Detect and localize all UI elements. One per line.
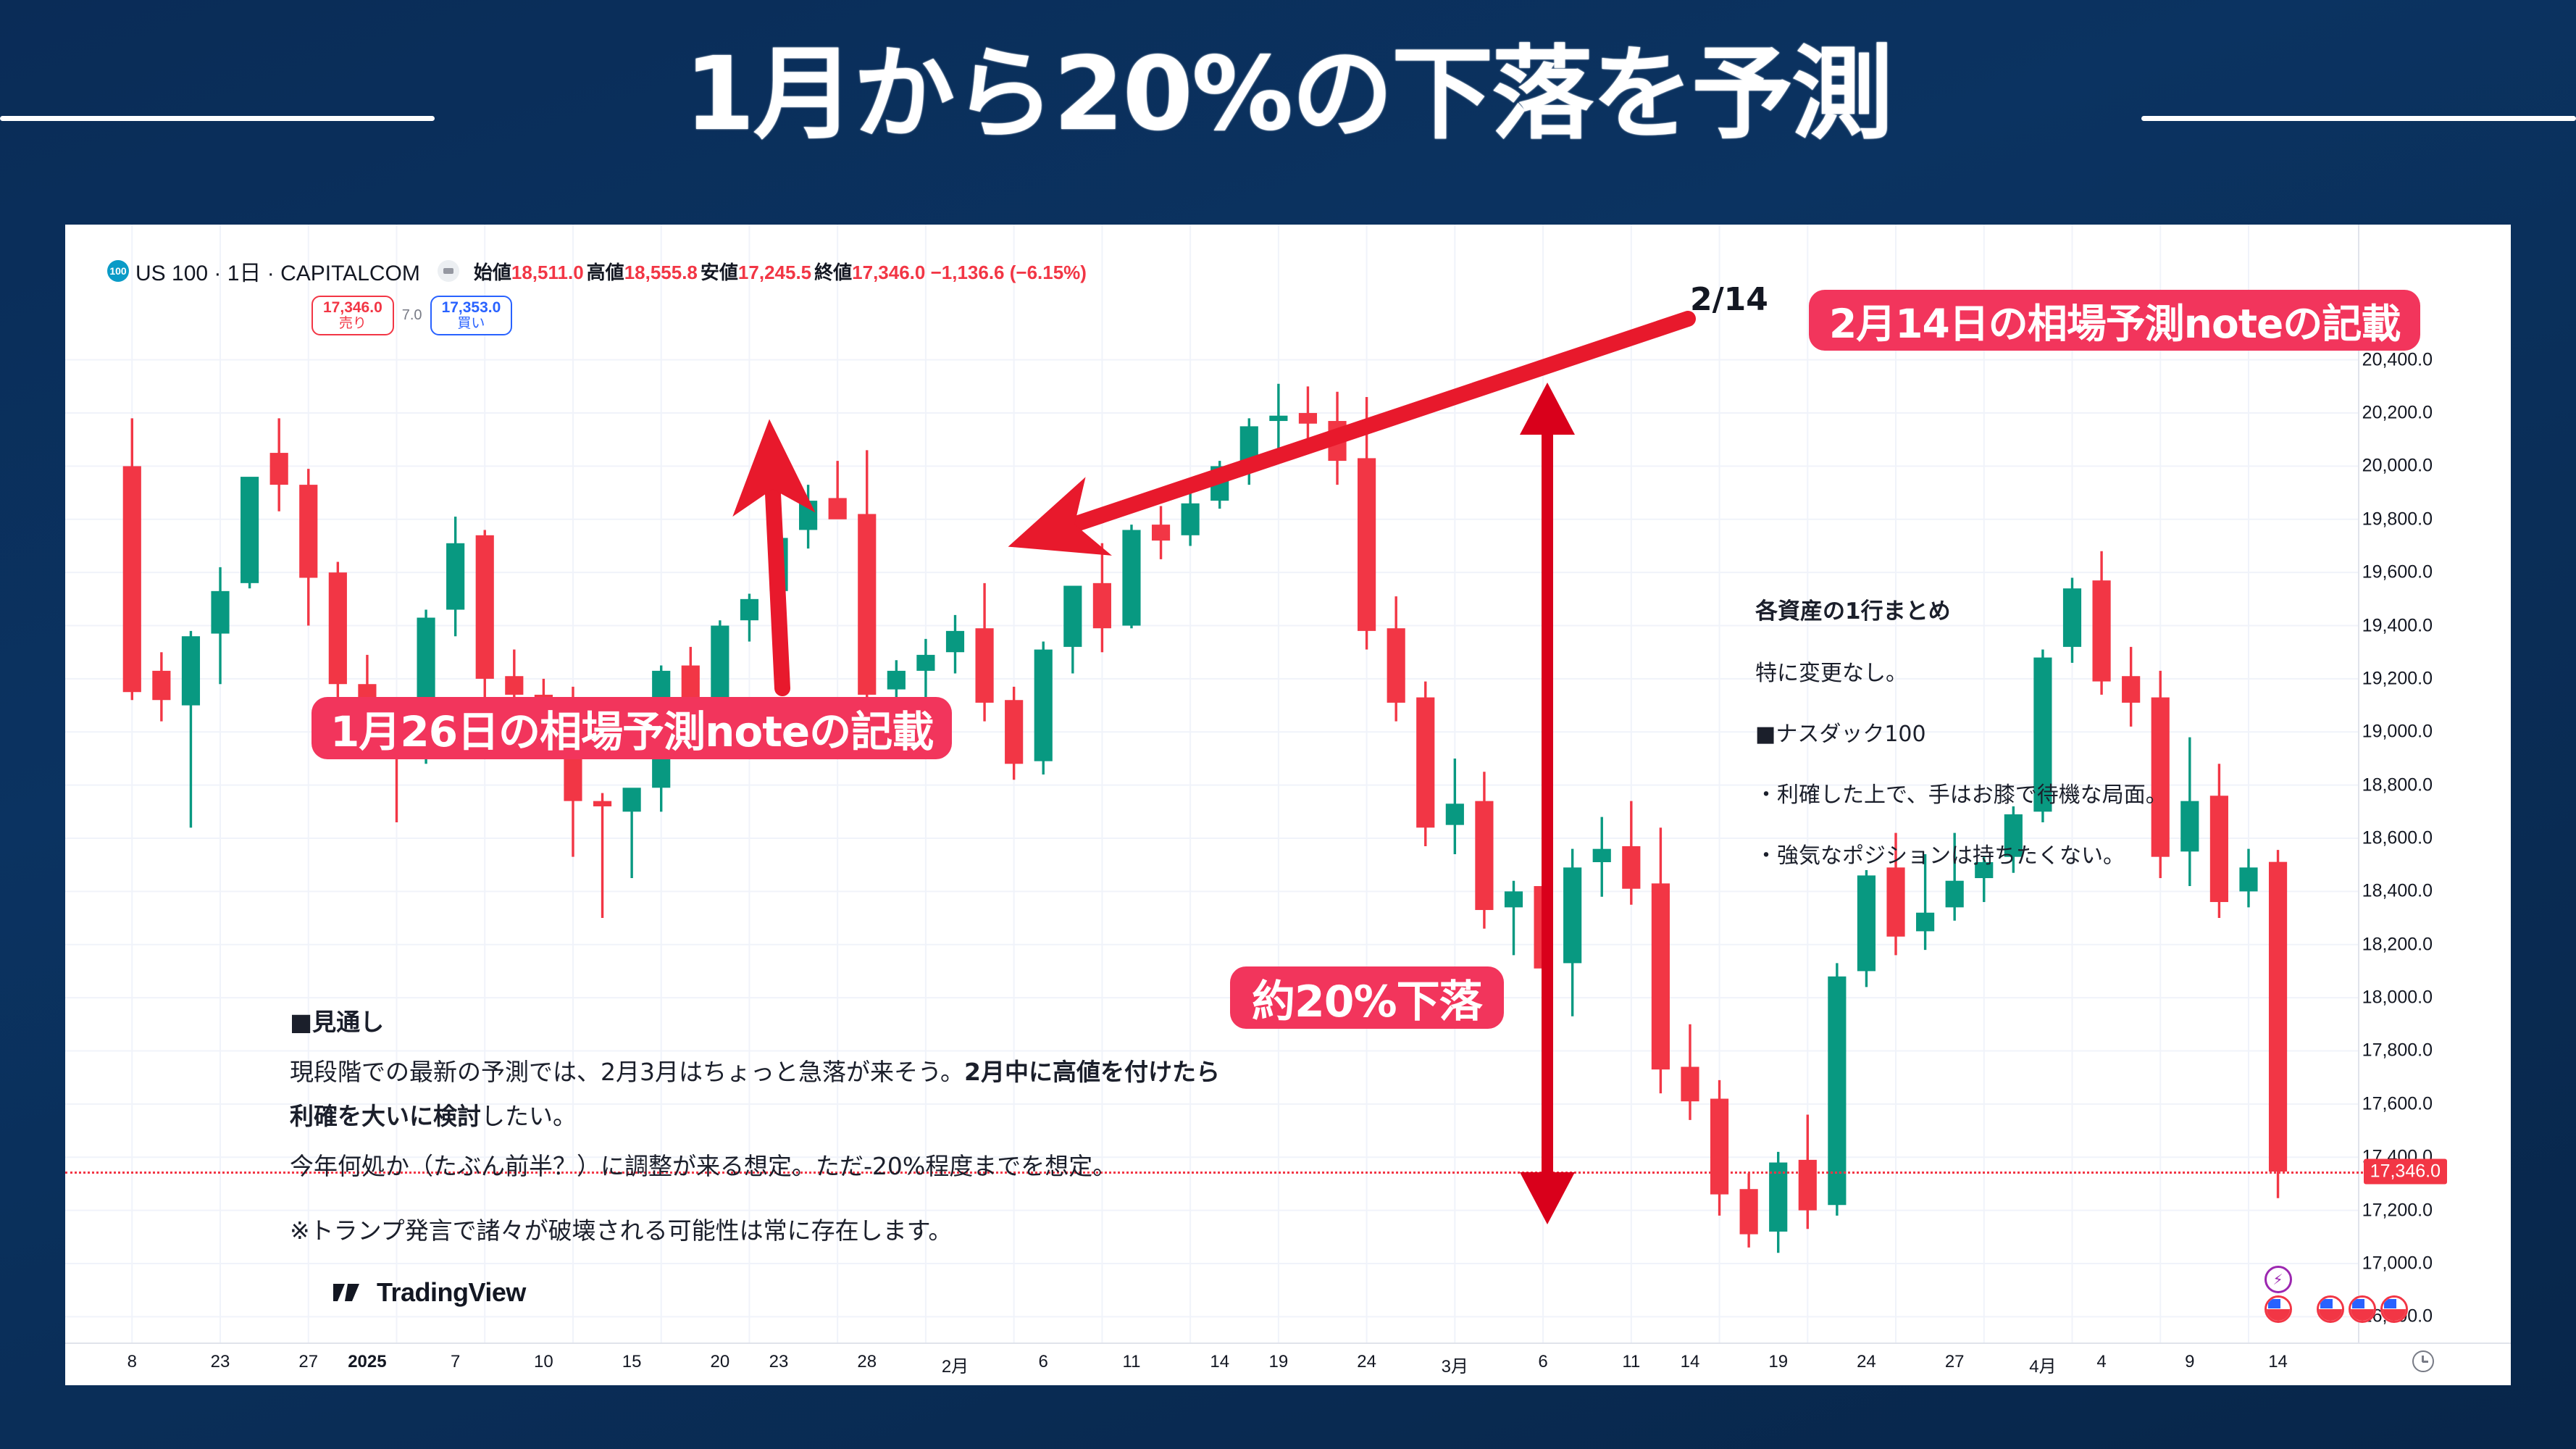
- page-header: 1月から20%の下落を予測: [0, 0, 2576, 217]
- price-tick: 17,800.0: [2362, 1040, 2433, 1061]
- note-right-line1: 特に変更なし。: [1755, 656, 2523, 691]
- note-left-para1: 現段階での最新の予測では、2月3月はちょっと急落が来そう。2月中に高値を付けたら…: [290, 1050, 1231, 1138]
- economic-event-marker-icon[interactable]: [2265, 1295, 2292, 1323]
- note-right-bullet2: ・強気なポジションは持ちたくない。: [1755, 839, 2523, 874]
- date-tick: 6: [1039, 1352, 1048, 1372]
- note-left-line1a: 現段階での最新の予測では、2月3月はちょっと急落が来そう。: [290, 1058, 964, 1086]
- date-tick: 23: [769, 1352, 789, 1372]
- price-tick: 20,400.0: [2362, 349, 2433, 370]
- badge-drop: 約20%下落: [1230, 966, 1504, 1029]
- date-tick: 19: [1768, 1352, 1788, 1372]
- date-tick: 27: [298, 1352, 318, 1372]
- date-tick: 24: [1857, 1352, 1876, 1372]
- clock-icon[interactable]: [2412, 1350, 2434, 1372]
- price-tick: 18,200.0: [2362, 934, 2433, 955]
- tradingview-wordmark: TradingView: [377, 1277, 526, 1308]
- date-tick: 14: [1210, 1352, 1229, 1372]
- earnings-marker-icon[interactable]: ⚡: [2265, 1266, 2292, 1293]
- date-tick: 23: [211, 1352, 230, 1372]
- price-tick: 19,800.0: [2362, 509, 2433, 530]
- date-tick: 24: [1357, 1352, 1376, 1372]
- date-label-214: 2/14: [1690, 281, 1768, 318]
- date-tick: 2月: [942, 1352, 969, 1377]
- date-tick: 14: [2268, 1352, 2288, 1372]
- price-tick: 17,000.0: [2362, 1253, 2433, 1274]
- note-right-heading: 各資産の1行まとめ: [1755, 594, 2523, 630]
- price-tick: 17,200.0: [2362, 1200, 2433, 1221]
- date-axis[interactable]: 823272025710152023282月6111419243月6111419…: [65, 1343, 2511, 1385]
- price-tick: 20,200.0: [2362, 403, 2433, 424]
- note-left-block: ■見通し 現段階での最新の予測では、2月3月はちょっと急落が来そう。2月中に高値…: [290, 1000, 1231, 1258]
- date-tick: 4月: [2029, 1352, 2056, 1377]
- date-tick: 27: [1945, 1352, 1965, 1372]
- date-tick: 10: [534, 1352, 553, 1372]
- economic-event-marker-icon[interactable]: [2380, 1295, 2408, 1323]
- note-left-heading: ■見通し: [290, 1000, 1231, 1044]
- note-right-section: ■ナスダック100: [1755, 717, 2523, 752]
- date-tick: 19: [1269, 1352, 1289, 1372]
- price-tick: 18,000.0: [2362, 987, 2433, 1009]
- date-tick: 8: [127, 1352, 137, 1372]
- badge-jan26: 1月26日の相場予測noteの記載: [311, 697, 952, 759]
- date-tick: 20: [711, 1352, 730, 1372]
- note-left-para3: ※トランプ発言で諸々が破壊される可能性は常に存在します。: [290, 1208, 1231, 1253]
- economic-event-marker-icon[interactable]: [2317, 1295, 2344, 1323]
- date-tick: 14: [1681, 1352, 1700, 1372]
- date-tick: 11: [1622, 1352, 1640, 1372]
- economic-event-marker-icon[interactable]: [2349, 1295, 2376, 1323]
- date-tick: 11: [1123, 1352, 1141, 1372]
- chart-card: 100 US 100 · 1日 · CAPITALCOM 始値18,511.0 …: [65, 225, 2511, 1385]
- price-tick: 17,600.0: [2362, 1093, 2433, 1114]
- date-tick: 3月: [1442, 1352, 1468, 1377]
- last-price-tag: 17,346.0: [2364, 1159, 2447, 1185]
- price-tick: 19,600.0: [2362, 562, 2433, 583]
- date-tick: 9: [2185, 1352, 2194, 1372]
- note-left-line1c: したい。: [481, 1102, 577, 1130]
- date-tick: 4: [2096, 1352, 2106, 1372]
- badge-feb14: 2月14日の相場予測noteの記載: [1809, 290, 2420, 351]
- tradingview-mark-icon: [333, 1281, 367, 1304]
- date-tick: 7: [451, 1352, 460, 1372]
- date-tick: 2025: [348, 1352, 386, 1372]
- date-tick: 6: [1538, 1352, 1547, 1372]
- note-left-para2: 今年何処か（たぶん前半？）に調整が来る想定。ただ-20%程度までを想定。: [290, 1144, 1231, 1188]
- date-tick: 28: [857, 1352, 877, 1372]
- note-right-block: 各資産の1行まとめ 特に変更なし。 ■ナスダック100 ・利確した上で、手はお膝…: [1755, 594, 2523, 900]
- tradingview-logo: TradingView: [333, 1277, 526, 1308]
- price-tick: 20,000.0: [2362, 456, 2433, 477]
- page-title: 1月から20%の下落を予測: [0, 26, 2576, 163]
- note-right-bullet1: ・利確した上で、手はお膝で待機な局面。: [1755, 778, 2523, 813]
- date-tick: 15: [622, 1352, 642, 1372]
